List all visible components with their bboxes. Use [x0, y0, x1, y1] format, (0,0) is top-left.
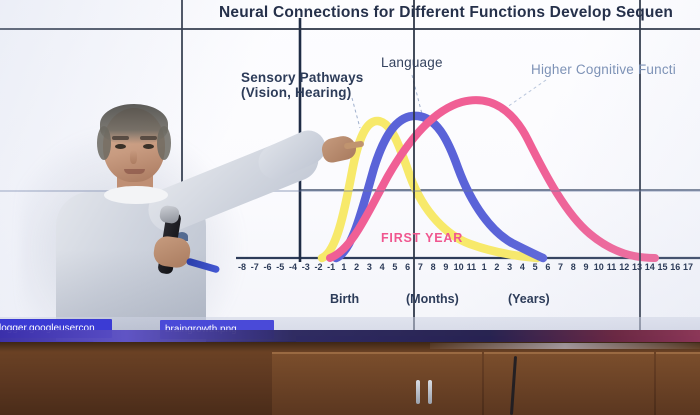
- x-tick-label: 10: [594, 262, 604, 272]
- presenter-eyebrow-left: [112, 136, 129, 140]
- axis-caption-months: (Months): [406, 292, 459, 306]
- label-language: Language: [381, 55, 443, 70]
- x-tick-label: 9: [443, 262, 448, 272]
- x-tick-label: 6: [405, 262, 410, 272]
- x-axis-tick-labels: -8-7-6-5-4-3-2-1123456789101112345678910…: [236, 262, 696, 276]
- x-tick-label: 12: [619, 262, 629, 272]
- x-tick-label: 15: [657, 262, 667, 272]
- screenshot-root: Neural Connections for Different Functio…: [0, 0, 700, 415]
- presenter-hair-left: [97, 126, 111, 160]
- axis-caption-birth: Birth: [330, 292, 359, 306]
- x-tick-label: 3: [507, 262, 512, 272]
- cabinet-handle-left[interactable]: [416, 380, 420, 404]
- x-tick-label: 17: [683, 262, 693, 272]
- x-tick-label: 5: [392, 262, 397, 272]
- label-sensory-pathways: Sensory Pathways (Vision, Hearing): [241, 70, 364, 100]
- x-tick-label: 9: [584, 262, 589, 272]
- presenter-eye-right: [143, 144, 154, 149]
- x-tick-label: -4: [289, 262, 297, 272]
- x-tick-label: 3: [367, 262, 372, 272]
- presenter-eye-left: [115, 144, 126, 149]
- x-tick-label: -6: [263, 262, 271, 272]
- x-tick-label: 7: [418, 262, 423, 272]
- presenter-eyebrow-right: [140, 136, 157, 140]
- x-tick-label: 7: [558, 262, 563, 272]
- label-sensory-line1: Sensory Pathways: [241, 70, 364, 85]
- x-tick-label: 1: [482, 262, 487, 272]
- label-sensory-line2: (Vision, Hearing): [241, 85, 364, 100]
- x-tick-label: 2: [494, 262, 499, 272]
- x-tick-label: 4: [520, 262, 525, 272]
- slide-title: Neural Connections for Different Functio…: [219, 4, 673, 22]
- x-tick-label: -7: [251, 262, 259, 272]
- x-tick-label: -5: [276, 262, 284, 272]
- x-tick-label: 14: [645, 262, 655, 272]
- wall-light-strip: [0, 330, 700, 342]
- cabinet-handle-right[interactable]: [428, 380, 432, 404]
- label-higher-cognitive: Higher Cognitive Functi: [531, 62, 676, 77]
- x-tick-label: -3: [302, 262, 310, 272]
- x-tick-label: 1: [341, 262, 346, 272]
- presenter-mouth: [124, 169, 145, 174]
- x-tick-label: 10: [454, 262, 464, 272]
- x-tick-label: 8: [431, 262, 436, 272]
- x-tick-label: 16: [670, 262, 680, 272]
- x-tick-label: 13: [632, 262, 642, 272]
- axis-caption-years: (Years): [508, 292, 550, 306]
- x-tick-label: 5: [533, 262, 538, 272]
- presenter-hair-right: [157, 126, 171, 160]
- x-tick-label: -1: [327, 262, 335, 272]
- x-tick-label: 4: [380, 262, 385, 272]
- cabinet-right: [484, 352, 654, 415]
- x-tick-label: 6: [545, 262, 550, 272]
- cabinet-left: [272, 352, 482, 415]
- x-tick-label: 8: [571, 262, 576, 272]
- x-tick-label: -2: [314, 262, 322, 272]
- cabinet-far-right: [656, 352, 700, 415]
- x-tick-label: 11: [467, 262, 477, 272]
- desk-edge-glare: [430, 343, 700, 349]
- presenter-nose: [130, 150, 137, 164]
- presenter-collar: [104, 186, 168, 204]
- label-first-year: FIRST YEAR: [381, 231, 463, 245]
- x-tick-label: 11: [607, 262, 617, 272]
- x-tick-label: 2: [354, 262, 359, 272]
